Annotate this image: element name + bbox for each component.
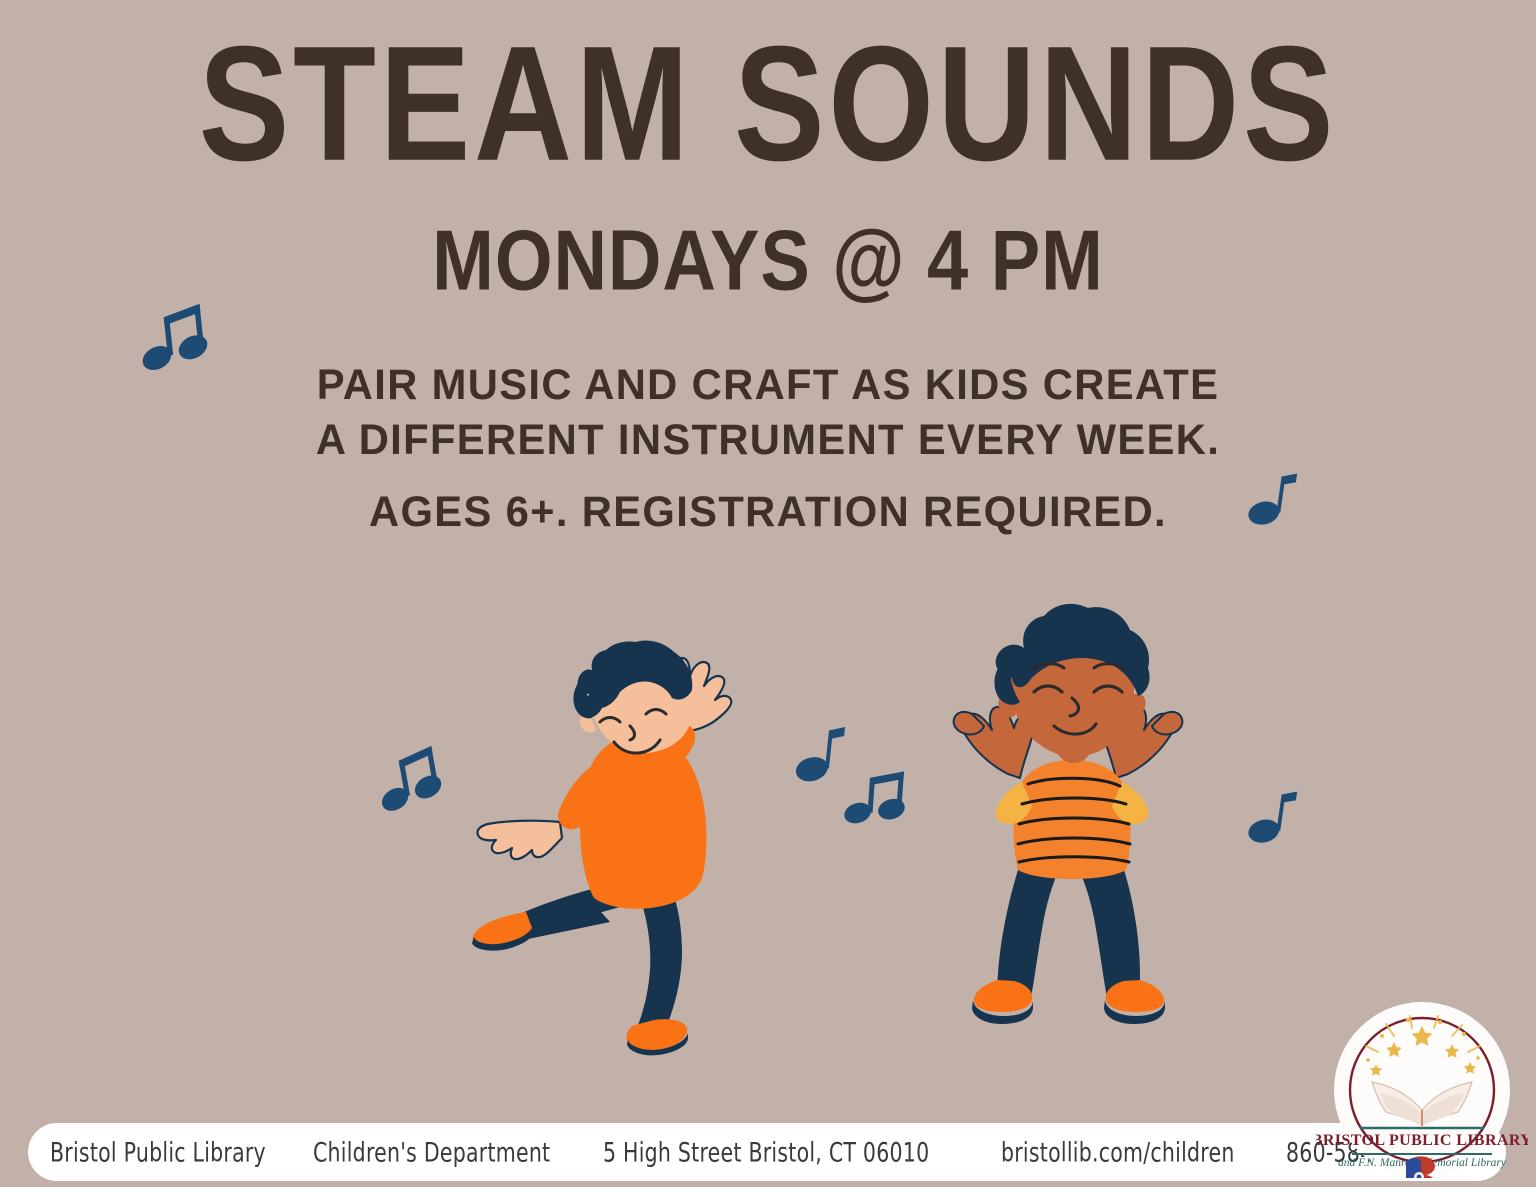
footer-department: Children's Department (313, 1136, 550, 1167)
description-line-2: A DIFFERENT INSTRUMENT EVERY WEEK. (23, 413, 1513, 468)
schedule-subtitle: MONDAYS @ 4 PM (38, 217, 1497, 303)
eighth-note-icon (791, 719, 850, 794)
footer-info-row: Bristol Public LibraryChildren's Departm… (28, 1123, 1358, 1181)
footer-library-name: Bristol Public Library (50, 1136, 266, 1167)
logo-title: BRISTOL PUBLIC LIBRARY (1316, 1132, 1528, 1149)
footer-website[interactable]: bristollib.com/children (1001, 1136, 1235, 1167)
dancing-boy-illustration (440, 640, 770, 1060)
eighth-note-icon (1244, 783, 1303, 857)
page-title: STEAM SOUNDS (54, 22, 1482, 186)
beamed-eighth-notes-icon (136, 294, 216, 384)
description-line-1: PAIR MUSIC AND CRAFT AS KIDS CREATE (23, 358, 1513, 413)
description-text: PAIR MUSIC AND CRAFT AS KIDS CREATE A DI… (23, 358, 1513, 468)
eighth-note-icon (1244, 465, 1303, 539)
poster-canvas: STEAM SOUNDS MONDAYS @ 4 PM PAIR MUSIC A… (0, 0, 1536, 1187)
headline-group: STEAM SOUNDS (0, 22, 1536, 168)
footer-address: 5 High Street Bristol, CT 06010 (603, 1136, 929, 1167)
bristol-public-library-logo: BRISTOL PUBLIC LIBRARY and F.N. Manross … (1316, 1002, 1528, 1178)
dancing-girl-illustration (912, 602, 1232, 1042)
beamed-eighth-notes-icon (842, 760, 911, 839)
